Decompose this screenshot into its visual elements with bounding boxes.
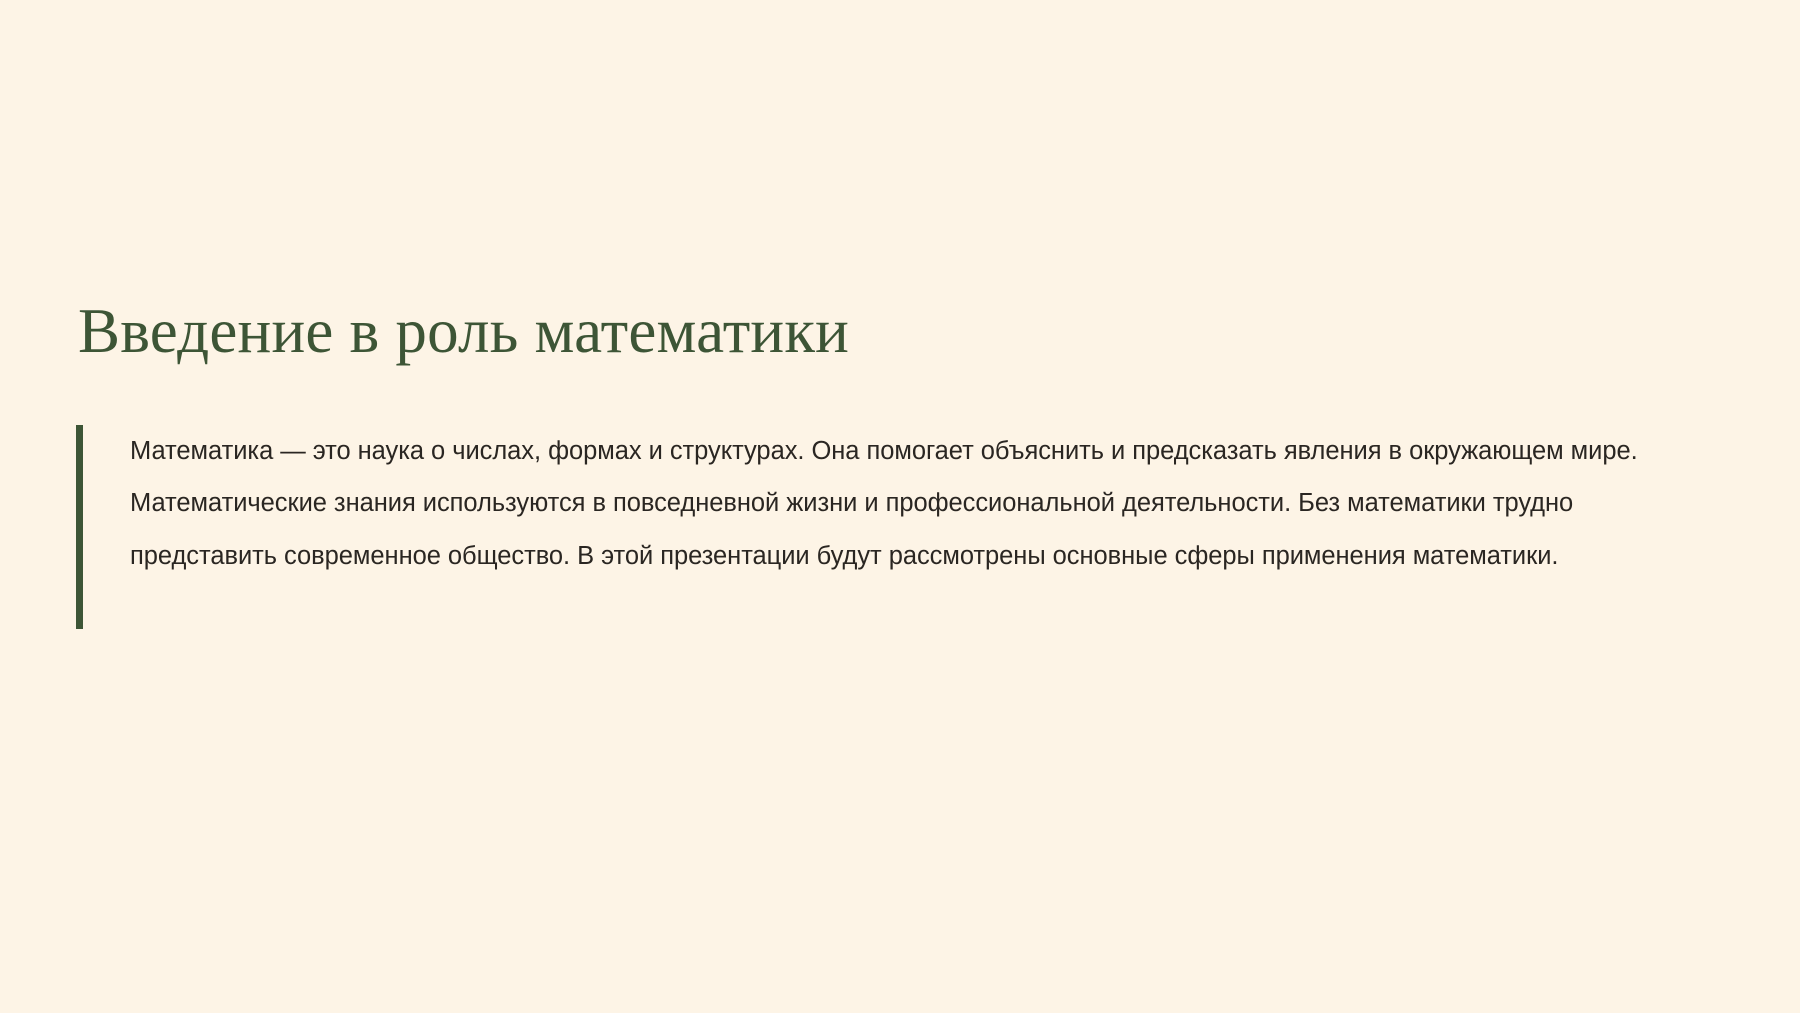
body-paragraph: Математика — это наука о числах, формах … (130, 425, 1696, 583)
accent-bar (76, 425, 83, 629)
slide-content: Введение в роль математики Математика — … (76, 296, 1696, 582)
presentation-slide: Введение в роль математики Математика — … (0, 0, 1800, 1013)
body-block: Математика — это наука о числах, формах … (76, 425, 1696, 583)
page-title: Введение в роль математики (76, 296, 1696, 367)
